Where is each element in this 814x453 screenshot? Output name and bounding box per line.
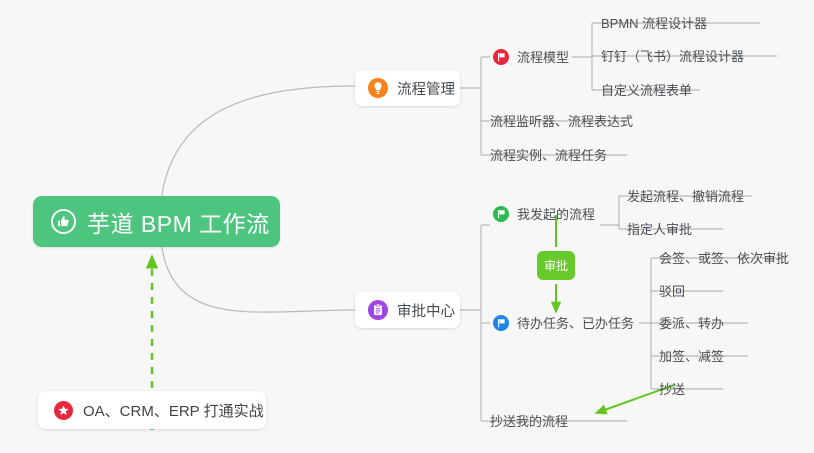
node-label-custom-process-form: 自定义流程表单 [601, 84, 692, 97]
node-label-instance-task: 流程实例、流程任务 [490, 149, 607, 162]
node-delegate-transfer[interactable]: 委派、转办 [659, 312, 724, 334]
node-label-countersign: 会签、或签、依次审批 [659, 252, 789, 265]
node-label-todo-done-tasks: 待办任务、已办任务 [517, 317, 634, 330]
mindmap-canvas: 芋道 BPM 工作流 流程管理 审批中心 [0, 0, 814, 453]
star-icon [54, 401, 73, 420]
node-dingtalk-feishu-designer[interactable]: 钉钉（飞书）流程设计器 [601, 45, 744, 67]
root-label: 芋道 BPM 工作流 [87, 205, 270, 239]
clipboard-icon [368, 300, 388, 320]
annotation-approve-chip[interactable]: 审批 [537, 251, 575, 280]
node-label-assignee-approval: 指定人审批 [627, 223, 692, 236]
node-label-bpmn-designer: BPMN 流程设计器 [601, 17, 707, 30]
node-start-cancel-process[interactable]: 发起流程、撤销流程 [627, 185, 744, 207]
node-integration[interactable]: OA、CRM、ERP 打通实战 [38, 391, 266, 429]
node-process-model[interactable]: 流程模型 [493, 46, 569, 68]
node-cc-to-me[interactable]: 抄送我的流程 [490, 410, 568, 432]
node-todo-done-tasks[interactable]: 待办任务、已办任务 [493, 312, 634, 334]
node-listener-expression[interactable]: 流程监听器、流程表达式 [490, 110, 633, 132]
flag-icon [493, 206, 509, 222]
node-label-add-remove-sign: 加签、减签 [659, 350, 724, 363]
lightbulb-icon [368, 78, 388, 98]
branch-label-approval-center: 审批中心 [397, 300, 455, 321]
node-label-my-initiated: 我发起的流程 [517, 208, 595, 221]
node-my-initiated[interactable]: 我发起的流程 [493, 203, 595, 225]
node-instance-task[interactable]: 流程实例、流程任务 [490, 144, 607, 166]
node-label-integration: OA、CRM、ERP 打通实战 [83, 400, 264, 421]
node-label-start-cancel-process: 发起流程、撤销流程 [627, 190, 744, 203]
thumbs-up-icon [51, 209, 76, 234]
node-countersign[interactable]: 会签、或签、依次审批 [659, 247, 789, 269]
node-bpmn-designer[interactable]: BPMN 流程设计器 [601, 12, 707, 34]
annotation-approve-label: 审批 [544, 257, 568, 274]
node-label-delegate-transfer: 委派、转办 [659, 317, 724, 330]
branch-node-approval-center[interactable]: 审批中心 [355, 292, 460, 328]
branch-label-process-mgmt: 流程管理 [397, 78, 455, 99]
node-cc[interactable]: 抄送 [659, 378, 685, 400]
root-node[interactable]: 芋道 BPM 工作流 [33, 196, 280, 247]
node-label-dingtalk-feishu-designer: 钉钉（飞书）流程设计器 [601, 50, 744, 63]
node-label-cc: 抄送 [659, 383, 685, 396]
node-label-cc-to-me: 抄送我的流程 [490, 415, 568, 428]
node-assignee-approval[interactable]: 指定人审批 [627, 218, 692, 240]
node-label-reject: 驳回 [659, 285, 685, 298]
node-custom-process-form[interactable]: 自定义流程表单 [601, 79, 692, 101]
node-add-remove-sign[interactable]: 加签、减签 [659, 345, 724, 367]
node-label-process-model: 流程模型 [517, 51, 569, 64]
node-reject[interactable]: 驳回 [659, 280, 685, 302]
flag-icon [493, 315, 509, 331]
node-label-listener-expression: 流程监听器、流程表达式 [490, 115, 633, 128]
flag-icon [493, 49, 509, 65]
branch-node-process-mgmt[interactable]: 流程管理 [355, 70, 460, 106]
